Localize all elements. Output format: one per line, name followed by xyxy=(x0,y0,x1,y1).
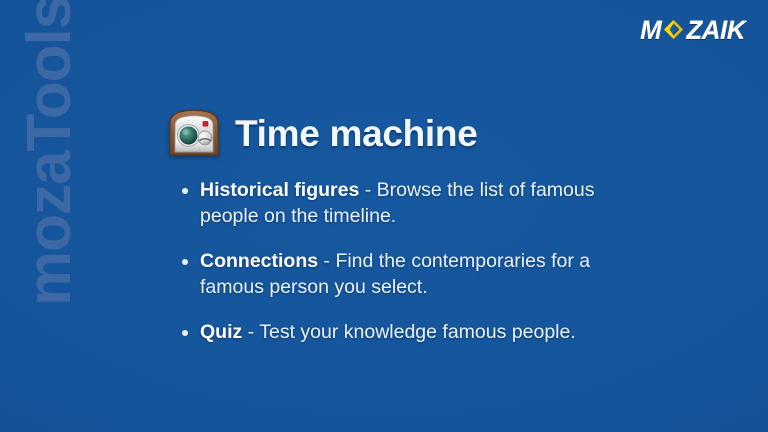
feature-separator: - xyxy=(359,179,376,201)
page-title: Time machine xyxy=(235,115,477,152)
bullet-dot xyxy=(182,188,188,194)
logo-text-before: M xyxy=(640,17,661,43)
logo-text-after: ZAIK xyxy=(686,17,745,43)
feature-separator: - xyxy=(318,250,335,272)
slide-content: Time machine Historical figures - Browse… xyxy=(166,104,636,346)
title-row: Time machine xyxy=(166,104,636,162)
vintage-radio-icon xyxy=(166,107,222,159)
feature-term: Historical figures xyxy=(200,179,359,201)
bullet-dot xyxy=(182,330,188,336)
feature-term: Quiz xyxy=(200,321,242,343)
feature-description: Test your knowledge famous people. xyxy=(259,321,576,343)
feature-list: Historical figures - Browse the list of … xyxy=(166,178,636,346)
list-item[interactable]: Quiz - Test your knowledge famous people… xyxy=(182,320,636,346)
list-item[interactable]: Connections - Find the contemporaries fo… xyxy=(182,249,636,301)
diamond-icon xyxy=(663,19,684,40)
mozatools-watermark: mozaTools xyxy=(0,0,140,432)
list-item[interactable]: Historical figures - Browse the list of … xyxy=(182,178,636,230)
watermark-label: mozaTools xyxy=(10,0,90,306)
mozaik-logo[interactable]: M ZAIK xyxy=(640,16,745,43)
feature-separator: - xyxy=(242,321,259,343)
bullet-dot xyxy=(182,259,188,265)
feature-term: Connections xyxy=(200,250,318,272)
slide-canvas: mozaTools M ZAIK xyxy=(0,0,768,432)
